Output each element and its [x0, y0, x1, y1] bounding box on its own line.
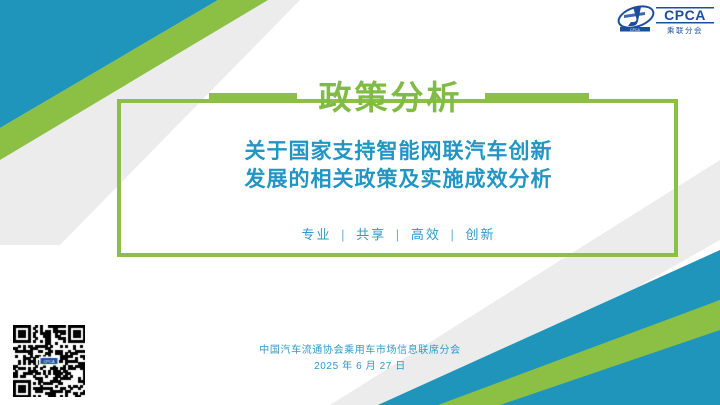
title-row: 政策分析 [117, 72, 680, 122]
footer-date: 2025 年 6 月 27 日 [0, 359, 720, 375]
subtitle: 关于国家支持智能网联汽车创新 发展的相关政策及实施成效分析 [117, 138, 680, 194]
left-green-rule [209, 93, 297, 102]
svg-text:CPCA: CPCA [664, 7, 706, 23]
svg-text:CPCA: CPCA [630, 28, 640, 32]
tagline-separator-3: | [446, 227, 459, 242]
cpca-logo: CPCA CPCA 乘联分会 [616, 4, 716, 38]
tagline-separator-1: | [337, 227, 350, 242]
tagline-item-3: 高效 [411, 227, 441, 242]
footer: 中国汽车流通协会乘用车市场信息联席分会 2025 年 6 月 27 日 [0, 343, 720, 374]
subtitle-line-1: 关于国家支持智能网联汽车创新 [117, 138, 680, 166]
subtitle-line-2: 发展的相关政策及实施成效分析 [117, 166, 680, 194]
tagline-separator-2: | [392, 227, 405, 242]
tagline-item-2: 共享 [356, 227, 386, 242]
tagline-item-4: 创新 [465, 227, 495, 242]
right-green-rule [485, 93, 589, 102]
footer-organization: 中国汽车流通协会乘用车市场信息联席分会 [0, 343, 720, 359]
presentation-slide: 政策分析 关于国家支持智能网联汽车创新 发展的相关政策及实施成效分析 专业 | … [0, 0, 720, 405]
qr-code-canvas [13, 325, 85, 397]
cpca-chinese-wordmark: 乘联分会 [667, 25, 703, 35]
tagline: 专业 | 共享 | 高效 | 创新 [117, 224, 680, 243]
qr-code[interactable] [13, 325, 85, 397]
cpca-swoosh-emblem: CPCA [616, 4, 656, 32]
cpca-wordmark: CPCA [656, 7, 714, 24]
blue-diagonal-band-bottom-right-upper [378, 250, 720, 405]
tagline-item-1: 专业 [302, 227, 332, 242]
page-title: 政策分析 [319, 81, 463, 114]
